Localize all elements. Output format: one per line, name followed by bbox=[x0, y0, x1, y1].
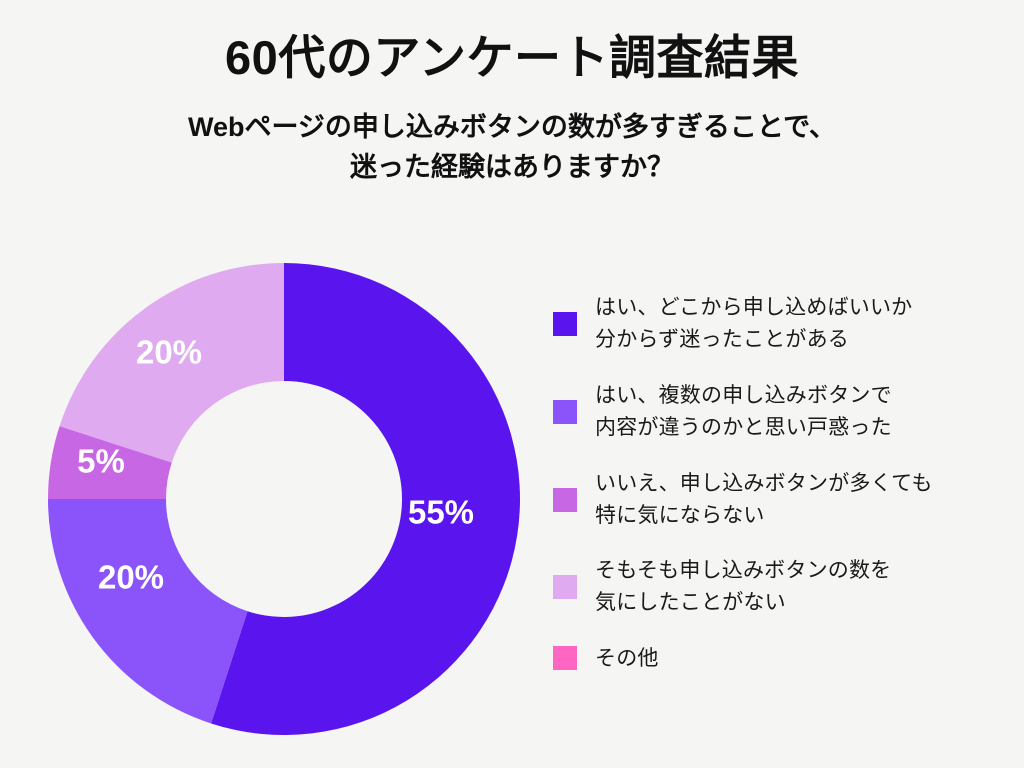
legend-label-2-line-1: はい、複数の申し込みボタンで bbox=[595, 380, 892, 412]
legend-swatch-5 bbox=[553, 646, 577, 670]
legend-label-5: その他 bbox=[595, 643, 659, 675]
legend-label-1-line-1: はい、どこから申し込めばいいか bbox=[595, 292, 912, 324]
legend-label-2: はい、複数の申し込みボタンで 内容が違うのかと思い戸惑った bbox=[595, 380, 892, 444]
legend-label-5-line-1: その他 bbox=[595, 643, 659, 675]
legend-item-4[interactable]: そもそも申し込みボタンの数を 気にしたことがない bbox=[553, 555, 1008, 619]
legend-label-1-line-2: 分からず迷ったことがある bbox=[595, 324, 912, 356]
legend-label-3-line-2: 特に気にならない bbox=[595, 500, 933, 532]
page-title: 60代のアンケート調査結果 bbox=[0, 0, 1024, 85]
chart-legend: はい、どこから申し込めばいいか 分からず迷ったことがある はい、複数の申し込みボ… bbox=[553, 292, 1008, 675]
legend-item-2[interactable]: はい、複数の申し込みボタンで 内容が違うのかと思い戸惑った bbox=[553, 380, 1008, 444]
donut-chart: 55% 20% 5% 20% bbox=[0, 240, 545, 768]
legend-item-1[interactable]: はい、どこから申し込めばいいか 分からず迷ったことがある bbox=[553, 292, 1008, 356]
legend-swatch-1 bbox=[553, 312, 577, 336]
donut-slice-2[interactable] bbox=[48, 499, 248, 723]
donut-slice-label-1: 55% bbox=[408, 494, 474, 531]
legend-swatch-4 bbox=[553, 575, 577, 599]
donut-slice-label-4: 20% bbox=[136, 334, 202, 371]
legend-label-3: いいえ、申し込みボタンが多くても 特に気にならない bbox=[595, 468, 933, 532]
legend-label-1: はい、どこから申し込めばいいか 分からず迷ったことがある bbox=[595, 292, 912, 356]
legend-item-5[interactable]: その他 bbox=[553, 643, 1008, 675]
header: 60代のアンケート調査結果 Webページの申し込みボタンの数が多すぎることで、 … bbox=[0, 0, 1024, 188]
legend-item-3[interactable]: いいえ、申し込みボタンが多くても 特に気にならない bbox=[553, 468, 1008, 532]
page-subtitle-line-1: Webページの申し込みボタンの数が多すぎることで、 bbox=[0, 107, 1024, 148]
page-subtitle: Webページの申し込みボタンの数が多すぎることで、 迷った経験はありますか？ bbox=[0, 85, 1024, 188]
donut-slice-label-3: 5% bbox=[77, 443, 125, 480]
legend-swatch-3 bbox=[553, 488, 577, 512]
legend-label-2-line-2: 内容が違うのかと思い戸惑った bbox=[595, 412, 892, 444]
donut-slice-label-2: 20% bbox=[98, 559, 164, 596]
donut-chart-svg: 55% 20% 5% 20% bbox=[0, 240, 545, 768]
legend-label-4: そもそも申し込みボタンの数を 気にしたことがない bbox=[595, 555, 891, 619]
legend-label-4-line-2: 気にしたことがない bbox=[595, 587, 891, 619]
page-subtitle-line-2: 迷った経験はありますか？ bbox=[0, 147, 1024, 188]
legend-swatch-2 bbox=[553, 400, 577, 424]
legend-label-4-line-1: そもそも申し込みボタンの数を bbox=[595, 555, 891, 587]
legend-label-3-line-1: いいえ、申し込みボタンが多くても bbox=[595, 468, 933, 500]
